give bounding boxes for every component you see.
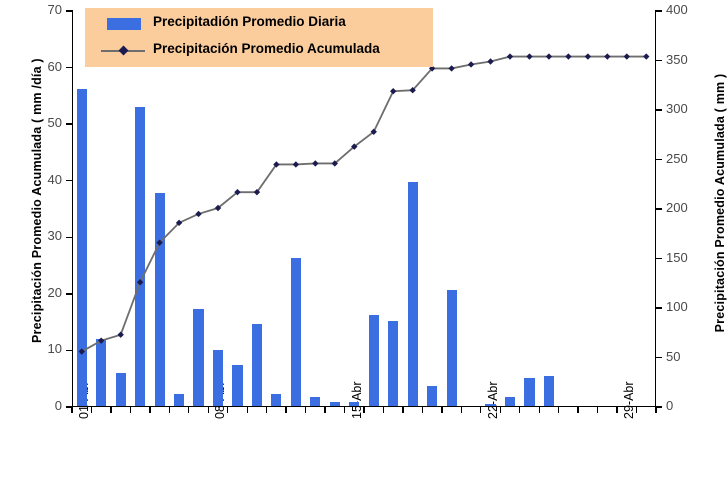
y-axis-right-tick xyxy=(655,60,662,61)
x-axis-tick xyxy=(149,406,150,413)
cumulative-marker xyxy=(312,160,318,166)
bar xyxy=(427,386,437,405)
x-axis-tick xyxy=(441,406,442,413)
legend-diamond-marker-icon xyxy=(119,46,129,56)
legend-label-daily: Precipitadión Promedio Diaria xyxy=(153,14,346,29)
y-axis-left-tick xyxy=(66,180,73,181)
x-axis-tick xyxy=(130,406,131,413)
y-axis-left-tick-label: 50 xyxy=(2,115,62,130)
x-axis-tick xyxy=(597,406,598,413)
x-axis-tick xyxy=(188,406,189,413)
y-axis-left-tick-label: 60 xyxy=(2,59,62,74)
cumulative-marker xyxy=(487,58,493,64)
y-axis-right-tick xyxy=(655,307,662,308)
cumulative-marker xyxy=(565,53,571,59)
cumulative-marker xyxy=(390,88,396,94)
cumulative-marker xyxy=(176,220,182,226)
x-axis-tick xyxy=(247,406,248,413)
legend-item-daily: Precipitadión Promedio Diaria xyxy=(85,11,433,37)
bar xyxy=(330,402,340,406)
bar xyxy=(252,324,262,405)
cumulative-marker xyxy=(351,143,357,149)
x-axis-tick xyxy=(344,406,345,413)
x-axis-tick xyxy=(110,406,111,413)
bar xyxy=(96,339,106,406)
cumulative-marker xyxy=(293,161,299,167)
y-axis-left-tick-label: 10 xyxy=(2,341,62,356)
legend-item-cumulative: Precipitación Promedio Acumulada xyxy=(85,38,433,64)
y-axis-right-tick xyxy=(655,159,662,160)
y-axis-right-tick-label: 150 xyxy=(666,250,726,265)
cumulative-marker xyxy=(604,53,610,59)
bar xyxy=(232,365,242,406)
y-axis-right-tick xyxy=(655,208,662,209)
x-axis-tick xyxy=(383,406,384,413)
y-axis-right-tick-label: 200 xyxy=(666,200,726,215)
y-axis-left-tick xyxy=(66,293,73,294)
plot-area: 010203040506070 050100150200250300350400… xyxy=(72,11,656,407)
y-axis-left-tick xyxy=(66,10,73,11)
cumulative-marker xyxy=(117,332,123,338)
x-axis-tick xyxy=(480,406,481,413)
x-axis-tick xyxy=(71,406,72,413)
y-axis-right-tick xyxy=(655,357,662,358)
y-axis-right-tick-label: 300 xyxy=(666,101,726,116)
x-axis-tick xyxy=(616,406,617,413)
y-axis-right-tick xyxy=(655,10,662,11)
bar xyxy=(291,258,301,406)
y-axis-right-tick-label: 350 xyxy=(666,52,726,67)
x-axis-tick xyxy=(422,406,423,413)
cumulative-marker xyxy=(215,205,221,211)
y-axis-left-line xyxy=(72,11,73,407)
chart-root: Precipitación Promedio Acumulada ( mm /d… xyxy=(0,0,728,477)
y-axis-right-tick-label: 400 xyxy=(666,2,726,17)
y-axis-right-tick-label: 250 xyxy=(666,151,726,166)
bar xyxy=(116,373,126,406)
cumulative-marker xyxy=(546,53,552,59)
bar xyxy=(174,394,184,405)
bar xyxy=(485,404,495,405)
legend-label-cumulative: Precipitación Promedio Acumulada xyxy=(153,41,380,56)
y-axis-left-title: Precipitación Promedio Acumulada ( mm /d… xyxy=(30,63,44,343)
bar xyxy=(135,107,145,406)
cumulative-marker xyxy=(195,211,201,217)
bar xyxy=(193,309,203,405)
y-axis-left-tick-label: 30 xyxy=(2,228,62,243)
bar xyxy=(505,397,515,405)
x-axis-tick-label: 15-Abr xyxy=(350,381,364,419)
x-axis-tick xyxy=(636,406,637,413)
cumulative-marker xyxy=(526,53,532,59)
bar xyxy=(447,290,457,406)
x-axis-tick xyxy=(227,406,228,413)
legend-bar-swatch-icon xyxy=(107,18,141,30)
cumulative-marker xyxy=(254,189,260,195)
cumulative-marker xyxy=(234,189,240,195)
x-axis-tick xyxy=(285,406,286,413)
bar xyxy=(155,193,165,406)
bar xyxy=(77,89,87,406)
y-axis-right-tick-label: 100 xyxy=(666,299,726,314)
y-axis-right-tick-label: 50 xyxy=(666,349,726,364)
y-axis-left-tick-label: 20 xyxy=(2,285,62,300)
bar xyxy=(369,315,379,406)
x-axis-tick xyxy=(324,406,325,413)
cumulative-marker xyxy=(643,53,649,59)
bar xyxy=(408,182,418,405)
x-axis-tick xyxy=(208,406,209,413)
x-axis-tick xyxy=(519,406,520,413)
x-axis-tick xyxy=(655,406,656,413)
bar xyxy=(271,394,281,406)
x-axis-tick xyxy=(169,406,170,413)
cumulative-line-path xyxy=(82,57,647,352)
cumulative-marker xyxy=(371,129,377,135)
y-axis-left-tick-label: 70 xyxy=(2,2,62,17)
x-axis-tick xyxy=(577,406,578,413)
cumulative-marker xyxy=(624,53,630,59)
cumulative-marker xyxy=(273,161,279,167)
y-axis-left-tick xyxy=(66,350,73,351)
bar xyxy=(310,397,320,405)
x-axis-tick-label: 29-Abr xyxy=(622,381,636,419)
y-axis-left-tick xyxy=(66,67,73,68)
x-axis-tick xyxy=(558,406,559,413)
x-axis-tick-label: 22-Abr xyxy=(486,381,500,419)
y-axis-left-tick-label: 0 xyxy=(2,398,62,413)
cumulative-marker xyxy=(468,61,474,67)
bar xyxy=(213,350,223,405)
bar xyxy=(524,378,534,406)
y-axis-left-tick-label: 40 xyxy=(2,172,62,187)
y-axis-left-tick xyxy=(66,237,73,238)
cumulative-marker xyxy=(409,87,415,93)
x-axis-tick xyxy=(539,406,540,413)
x-axis-tick xyxy=(266,406,267,413)
y-axis-right-tick-label: 0 xyxy=(666,398,726,413)
chart-legend: Precipitadión Promedio Diaria Precipitac… xyxy=(85,8,433,67)
x-axis-tick xyxy=(461,406,462,413)
bar xyxy=(388,321,398,406)
x-axis-tick xyxy=(305,406,306,413)
y-axis-right-tick xyxy=(655,109,662,110)
x-axis-tick xyxy=(402,406,403,413)
y-axis-left-tick xyxy=(66,123,73,124)
cumulative-marker xyxy=(585,53,591,59)
bar xyxy=(349,402,359,406)
y-axis-right-tick xyxy=(655,258,662,259)
cumulative-marker xyxy=(332,160,338,166)
cumulative-marker xyxy=(507,53,513,59)
bar xyxy=(544,376,554,406)
cumulative-marker xyxy=(448,65,454,71)
